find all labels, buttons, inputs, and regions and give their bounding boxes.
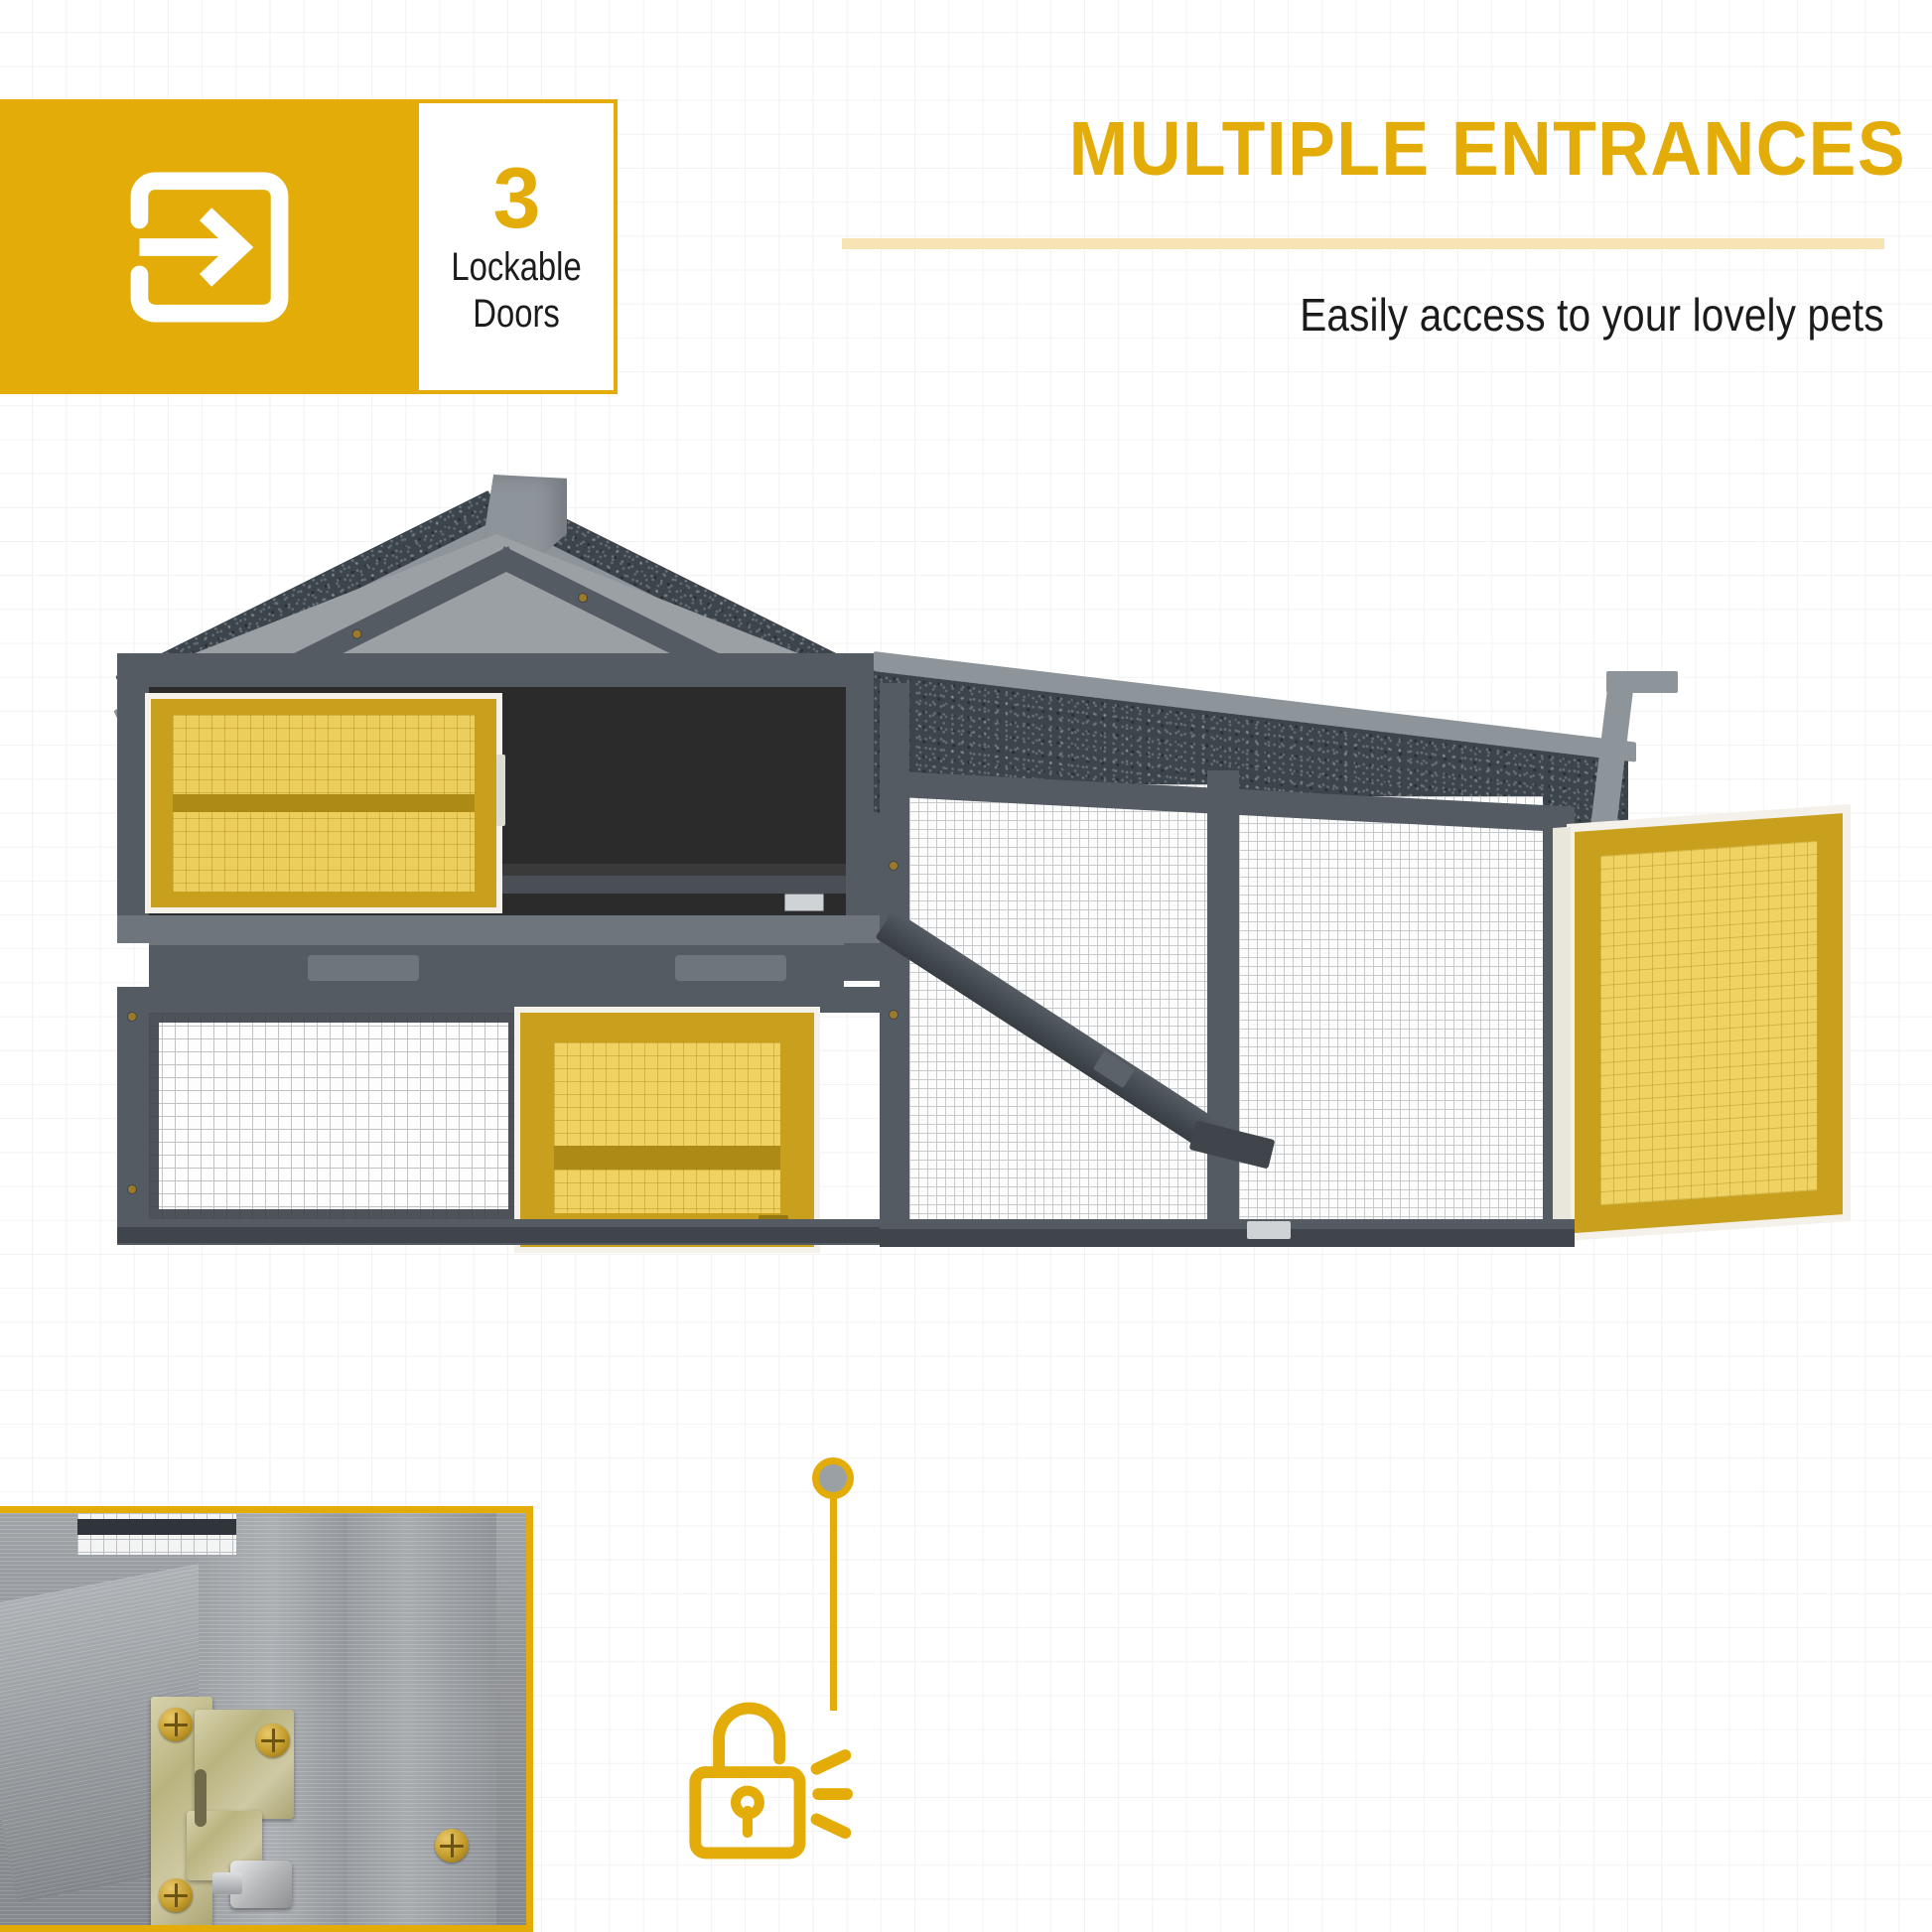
middle-door-mid-rail [554, 1146, 780, 1170]
inset-mesh-dark-band [77, 1519, 236, 1535]
page-title: MULTIPLE ENTRANCES [863, 111, 1906, 188]
upper-header-beam [117, 653, 876, 687]
interior-latch-pair[interactable] [784, 894, 824, 911]
inset-plank-right [347, 1513, 496, 1932]
interior-floor-lip [501, 876, 846, 894]
enter-door-arrow-icon [112, 150, 307, 345]
tray-band-upper [117, 915, 880, 943]
page-subtitle: Easily access to your lovely pets [1300, 288, 1884, 342]
latch-bolt-slot [195, 1769, 207, 1827]
run-base-foot [880, 1229, 1575, 1247]
upper-door-hinge[interactable] [496, 755, 505, 826]
run-roof-right-cap [1606, 671, 1678, 693]
run-middle-post [1207, 770, 1239, 1243]
left-base-foot [117, 1227, 880, 1243]
feature-badge-block [0, 99, 419, 394]
upper-left-lockable-door[interactable] [151, 699, 496, 907]
right-run-lockable-door[interactable] [1575, 813, 1843, 1233]
run-mesh-panel-right [1239, 796, 1543, 1239]
right-door-mesh-panel [1600, 841, 1817, 1205]
latch-screw-bottom-left [159, 1878, 193, 1912]
product-photo-rabbit-hutch [0, 427, 1932, 1519]
run-left-post [880, 683, 909, 1243]
header-text-block: MULTIPLE ENTRANCES Easily access to your… [784, 111, 1906, 399]
latch-callout-marker[interactable] [812, 1457, 854, 1499]
title-divider-rule [842, 238, 1884, 249]
pull-out-cleaning-tray[interactable] [149, 943, 844, 987]
run-base-latch[interactable] [1247, 1221, 1291, 1239]
tray-handle-left[interactable] [308, 955, 419, 981]
marketing-infographic-page: 3 Lockable Doors MULTIPLE ENTRANCES Easi… [0, 0, 1932, 1932]
door-count-label-line1: Lockable [451, 244, 581, 291]
callout-leader-elbow [526, 1506, 837, 1711]
middle-door-mesh-upper [554, 1042, 780, 1146]
latch-screw-top-left [159, 1708, 193, 1741]
lower-center-lockable-door[interactable] [520, 1013, 814, 1247]
lockable-doors-count-card: 3 Lockable Doors [419, 99, 618, 394]
latch-bolt-shaft [212, 1872, 242, 1894]
hinge-latch-closeup-inset [0, 1506, 533, 1932]
lower-left-mesh-inner-frame [149, 1013, 518, 1219]
right-door-hinge-strip[interactable] [1553, 827, 1571, 1241]
door-count-number: 3 [493, 160, 540, 238]
upper-door-mid-rail [173, 794, 475, 812]
wood-screw-right-panel [435, 1829, 469, 1863]
tray-handle-right[interactable] [675, 955, 786, 981]
middle-door-mesh-lower [554, 1170, 780, 1213]
run-mesh-panel-left [909, 784, 1207, 1239]
lower-left-post [117, 987, 149, 1243]
door-count-label-line2: Doors [451, 291, 581, 338]
door-count-label: Lockable Doors [451, 244, 581, 338]
callout-leader-line [830, 1494, 837, 1711]
latch-screw-top-right [256, 1724, 290, 1757]
